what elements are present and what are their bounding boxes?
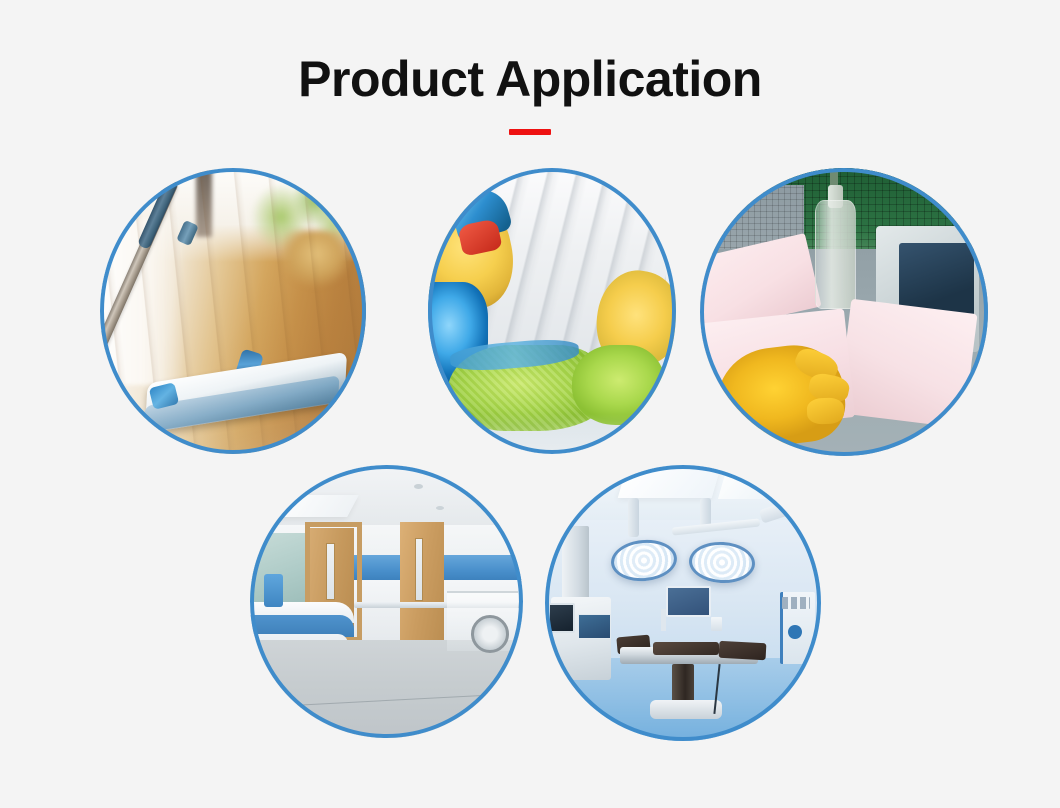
product-application-gallery xyxy=(0,0,1060,808)
wall-panel-buttons xyxy=(782,597,810,608)
operating-table-column xyxy=(672,664,694,703)
wall-panel-badge xyxy=(788,625,802,639)
photo-hospital-corridor xyxy=(250,465,523,738)
photo-cleanroom-lab-wiping xyxy=(700,168,988,456)
photo-operating-room xyxy=(545,465,821,741)
ceiling-light-strip xyxy=(261,495,360,517)
counter-reflection xyxy=(428,414,676,454)
wooden-door-right xyxy=(400,522,444,639)
corridor-floor xyxy=(250,640,523,738)
ceiling-light-panel xyxy=(718,471,798,499)
application-image-cleanroom-lab-wiping[interactable] xyxy=(700,168,988,456)
glove-finger xyxy=(806,398,844,425)
wall-monitor xyxy=(666,586,710,616)
photo-home-floor-mopping xyxy=(100,168,366,454)
anesthesia-machine-screen xyxy=(578,614,611,639)
product-application-page: Product Application xyxy=(0,0,1060,808)
ceiling-downlight xyxy=(436,506,444,510)
door-window xyxy=(415,538,423,601)
floor-reflection xyxy=(100,380,366,454)
operating-table-pad-right xyxy=(718,640,766,659)
wall-socket xyxy=(711,617,722,631)
application-image-home-floor-mopping[interactable] xyxy=(100,168,366,454)
door-window xyxy=(326,543,335,600)
pink-wipe-right xyxy=(837,299,977,429)
vitals-monitor xyxy=(548,603,576,633)
monitor-arm xyxy=(661,609,667,631)
photo-household-surface-cleaning xyxy=(428,168,676,454)
squeeze-bottle xyxy=(815,200,855,309)
surgical-light-arm-left xyxy=(628,498,639,537)
wall-dispenser xyxy=(264,574,283,607)
equipment-column xyxy=(562,526,590,603)
ceiling-light-panel xyxy=(618,468,721,498)
operating-table-pad-center xyxy=(653,642,719,656)
ceiling-downlight xyxy=(414,484,423,489)
application-image-operating-room[interactable] xyxy=(545,465,821,741)
operating-table-base xyxy=(650,700,722,719)
application-image-household-surface-cleaning[interactable] xyxy=(428,168,676,454)
application-image-hospital-corridor[interactable] xyxy=(250,465,523,738)
